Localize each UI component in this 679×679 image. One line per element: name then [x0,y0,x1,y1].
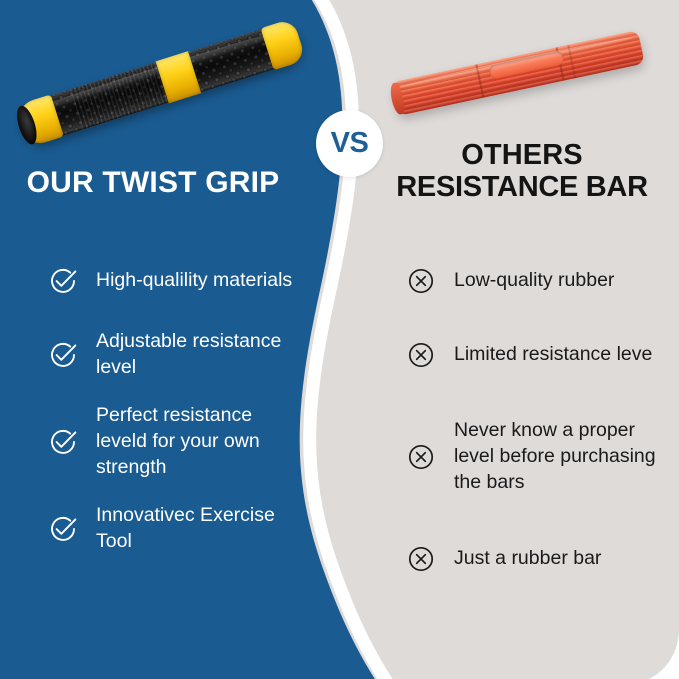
list-item: Innovativec Exercise Tool [46,492,304,566]
list-item-label: High-qualility materials [96,268,292,294]
list-item-label: Innovativec Exercise Tool [96,503,304,554]
check-circle-icon [46,264,80,298]
list-item: Perfect resistance leveld for your own s… [46,392,304,492]
x-circle-icon [404,264,438,298]
comparison-infographic: OUR TWIST GRIP OTHERS RESISTANCE BAR VS … [0,0,679,679]
list-item-label: Never know a proper level before purchas… [454,418,670,495]
check-circle-icon [46,512,80,546]
x-circle-icon [404,440,438,474]
list-item: Never know a proper level before purchas… [404,392,670,522]
list-item: Adjustable resistance level [46,318,304,392]
list-item: Limited resistance leve [404,318,670,392]
list-item: High-qualility materials [46,244,304,318]
list-item-label: Adjustable resistance level [96,329,304,380]
check-circle-icon [46,338,80,372]
vs-badge: VS [316,110,383,177]
left-feature-list: High-qualility materials Adjustable resi… [46,244,304,566]
list-item-label: Perfect resistance leveld for your own s… [96,403,304,480]
x-circle-icon [404,338,438,372]
list-item-label: Limited resistance leve [454,342,652,368]
right-heading-line-1: OTHERS [372,139,672,171]
right-product-heading: OTHERS RESISTANCE BAR [372,139,672,204]
list-item: Low-quality rubber [404,244,670,318]
left-product-heading: OUR TWIST GRIP [0,166,306,199]
check-circle-icon [46,425,80,459]
x-circle-icon [404,542,438,576]
vs-badge-label: VS [331,129,369,158]
list-item-label: Just a rubber bar [454,546,601,572]
right-feature-list: Low-quality rubber Limited resistance le… [404,244,670,596]
list-item: Just a rubber bar [404,522,670,596]
right-heading-line-2: RESISTANCE BAR [372,171,672,203]
list-item-label: Low-quality rubber [454,268,614,294]
